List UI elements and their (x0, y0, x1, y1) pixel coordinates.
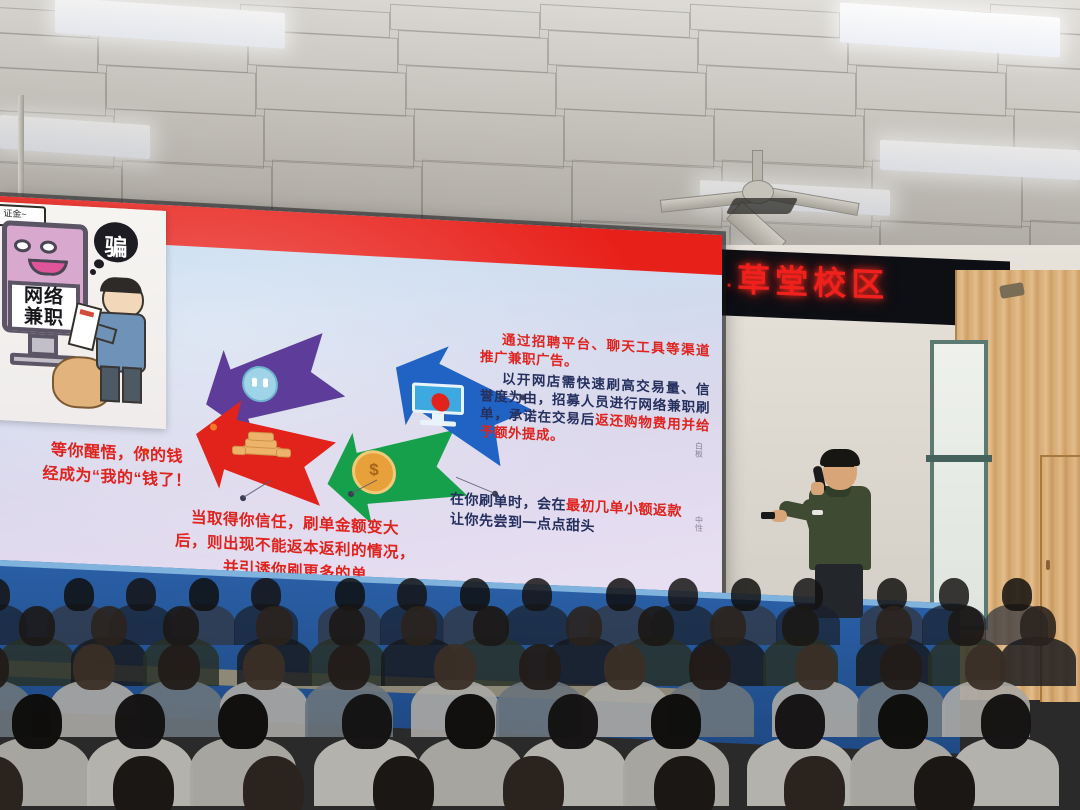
audience-member-head (710, 606, 746, 646)
audience-member-head (12, 694, 62, 749)
wristwatch-icon (812, 510, 823, 515)
audience-member-head (256, 606, 292, 646)
audience-member-head (91, 606, 127, 646)
audience-member-head (654, 756, 715, 810)
audience-member-head (64, 578, 94, 611)
audience-member-head (243, 644, 285, 690)
audience-member-head (158, 644, 200, 690)
audience-member-head (373, 756, 434, 810)
led-venue-label: 草堂校区 (737, 260, 889, 305)
audience-member-head (878, 694, 928, 749)
audience-member-head (126, 578, 156, 611)
audience-member-head (965, 644, 1007, 690)
audience-member-head (880, 644, 922, 690)
led-banner-text: ·草堂校区 (726, 258, 956, 311)
audience-member-head (473, 606, 509, 646)
audience-member-head (566, 606, 602, 646)
audience-member-head (784, 756, 845, 810)
audience-member-head (401, 606, 437, 646)
audience-member-head (218, 694, 268, 749)
audience-member-head (731, 578, 761, 611)
audience-member-head (19, 606, 55, 646)
audience-member-head (1002, 578, 1032, 611)
audience-member-head (981, 694, 1031, 749)
audience-member-head (434, 644, 476, 690)
audience-member-head (503, 756, 564, 810)
audience-member-head (113, 756, 174, 810)
audience-member-head (328, 644, 370, 690)
audience-member-head (604, 644, 646, 690)
audience-member-head (689, 644, 731, 690)
audience-member-head (948, 606, 984, 646)
audience-member-head (445, 694, 495, 749)
audience-member-head (163, 606, 199, 646)
lecture-hall-photo: ·草堂校区 证金~ 网络 兼职 (0, 0, 1080, 810)
audience-member-head (638, 606, 674, 646)
led-prefix: · (726, 276, 737, 295)
audience-member-head (651, 694, 701, 749)
audience-member-head (189, 578, 219, 611)
audience-member-head (606, 578, 636, 611)
audience-member-head (914, 756, 975, 810)
audience-member-head (243, 756, 304, 810)
audience-member-head (342, 694, 392, 749)
presentation-clicker-icon (761, 512, 775, 519)
audience-member-head (1020, 606, 1056, 646)
audience-member-head (876, 606, 912, 646)
audience-member-head (795, 644, 837, 690)
audience-member-head (548, 694, 598, 749)
audience-member-head (519, 644, 561, 690)
whiteboard-tray (926, 455, 992, 462)
audience (0, 560, 1080, 810)
glasses-icon (824, 466, 854, 474)
audience-member-head (775, 694, 825, 749)
audience-member-head (522, 578, 552, 611)
audience-member-head (329, 606, 365, 646)
audience-member-head (782, 606, 818, 646)
audience-member-head (668, 578, 698, 611)
audience-member-head (115, 694, 165, 749)
audience-member-head (73, 644, 115, 690)
ceiling-fan-icon (700, 150, 880, 240)
